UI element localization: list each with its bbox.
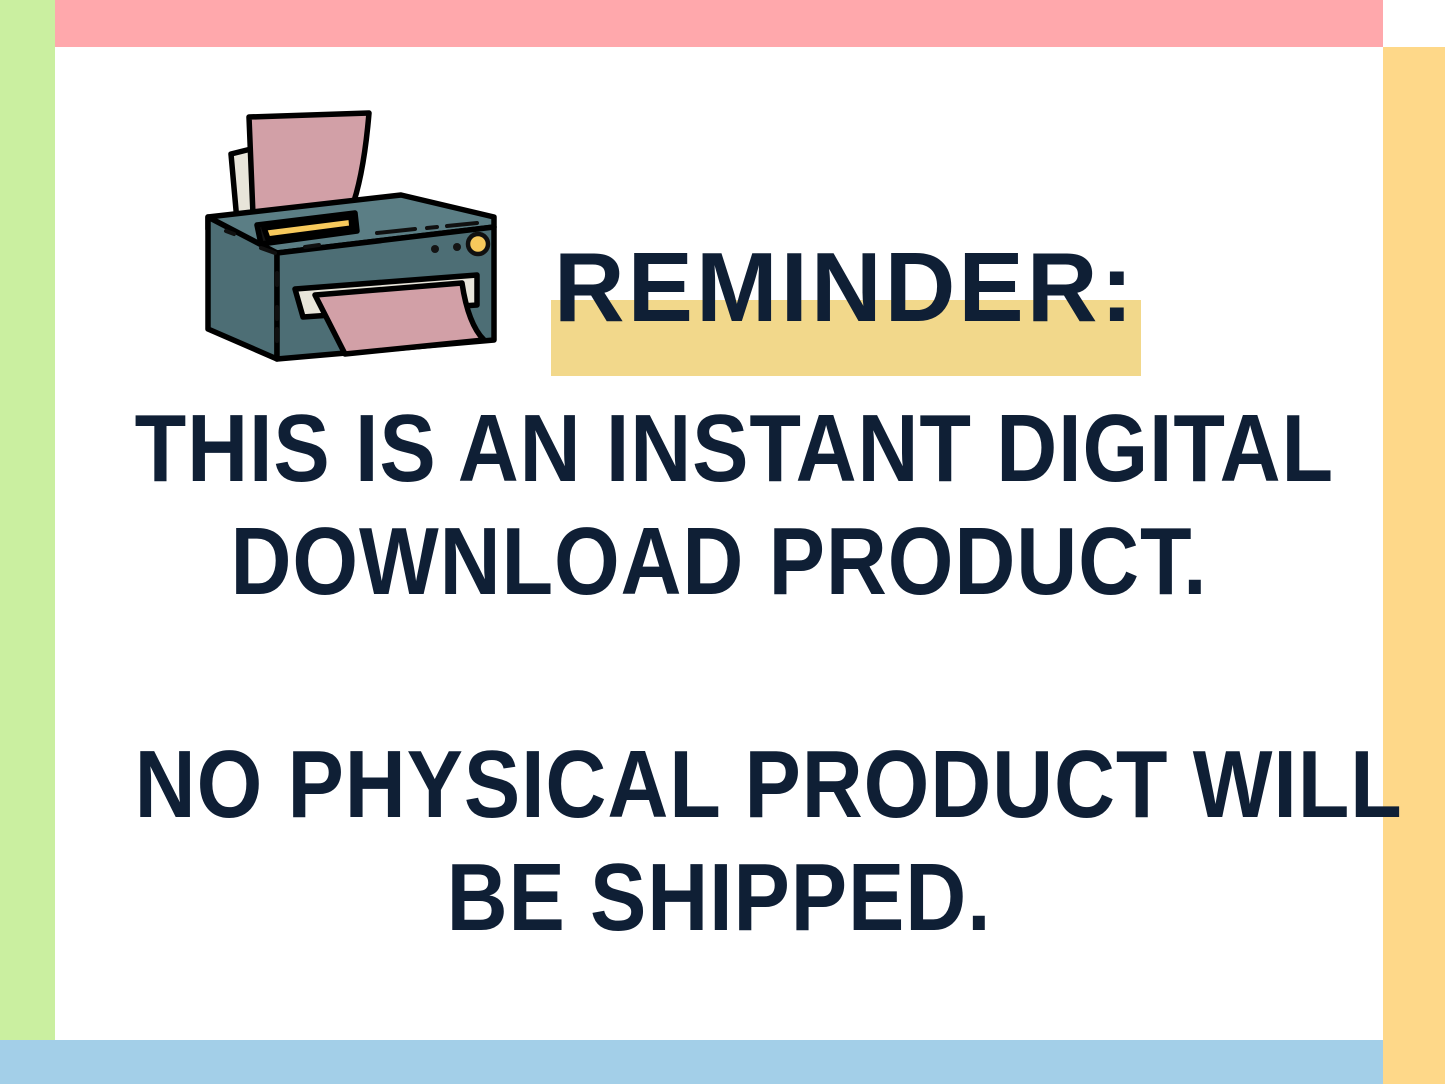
copy-line-1: THIS IS AN INSTANT DIGITAL: [135, 392, 1304, 505]
body-copy: THIS IS AN INSTANT DIGITAL DOWNLOAD PROD…: [55, 392, 1383, 954]
copy-line-2: DOWNLOAD PRODUCT.: [135, 505, 1304, 618]
copy-paragraph-gap: [55, 618, 1383, 728]
decor-band-left: [0, 0, 55, 1040]
content-area: REMINDER: THIS IS AN INSTANT DIGITAL DOW…: [55, 47, 1383, 1040]
copy-line-4: BE SHIPPED.: [135, 841, 1304, 954]
printer-icon: [185, 97, 530, 402]
reminder-heading-block: REMINDER:: [535, 232, 1155, 372]
copy-line-3: NO PHYSICAL PRODUCT WILL: [135, 728, 1304, 841]
decor-band-top: [55, 0, 1383, 47]
listing-graphic-canvas: REMINDER: THIS IS AN INSTANT DIGITAL DOW…: [0, 0, 1445, 1084]
decor-band-bottom: [0, 1040, 1383, 1084]
page-title: REMINDER:: [535, 232, 1155, 342]
decor-band-right: [1383, 47, 1445, 1084]
